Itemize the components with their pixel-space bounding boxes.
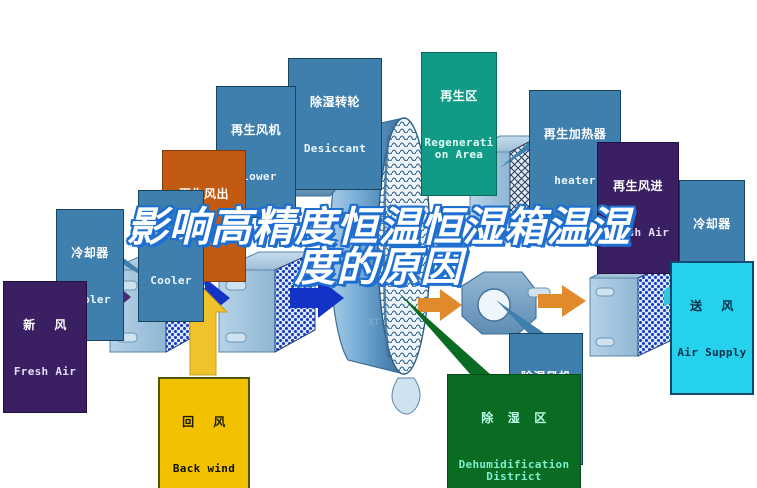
- label-en: Desiccant: [289, 143, 381, 155]
- svg-text:XT: XT: [368, 318, 380, 328]
- dehumidification-blower-fan: [462, 272, 550, 334]
- label-fresh-air-inlet: 新 风 Fresh Air: [3, 281, 87, 413]
- label-en: Air Supply: [672, 347, 752, 359]
- label-cn: 送 风: [672, 300, 752, 313]
- label-cn: 再生风机: [217, 124, 295, 137]
- label-cn: 除湿转轮: [289, 96, 381, 109]
- label-regeneration-area: 再生区 Regenerati on Area: [421, 52, 497, 196]
- label-en: Fresh Air: [4, 366, 86, 378]
- label-regeneration-fresh-air: 再生风进 Fresh Air: [597, 142, 679, 274]
- label-cn: 冷却器: [57, 247, 123, 260]
- label-cn: 除 湿 区: [448, 412, 580, 425]
- label-cn: 回 风: [160, 416, 248, 429]
- cooler-block-right: [590, 262, 672, 356]
- label-dehumidification-district: 除 湿 区 Dehumidification District: [447, 374, 581, 488]
- label-cn: 再生区: [422, 90, 496, 103]
- label-back-wind: 回 风 Back wind: [158, 377, 250, 488]
- label-cn: 再生加热器: [530, 128, 620, 141]
- label-air-supply: 送 风 Air Supply: [670, 261, 754, 395]
- diagram-canvas: XT: [0, 0, 757, 488]
- label-cn: 冷却器: [139, 228, 203, 241]
- label-en: Dehumidification District: [448, 459, 580, 483]
- label-en: Fresh Air: [598, 227, 678, 239]
- label-en: Cooler: [139, 275, 203, 287]
- label-cn: 冷却器: [680, 218, 744, 231]
- label-cooler-mid: 冷却器 Cooler: [138, 190, 204, 322]
- label-desiccant-wheel: 除湿转轮 Desiccant: [288, 58, 382, 190]
- label-cn: 再生风进: [598, 180, 678, 193]
- label-en: Regenerati on Area: [422, 137, 496, 161]
- label-en: Back wind: [160, 463, 248, 475]
- label-cn: 新 风: [4, 319, 86, 332]
